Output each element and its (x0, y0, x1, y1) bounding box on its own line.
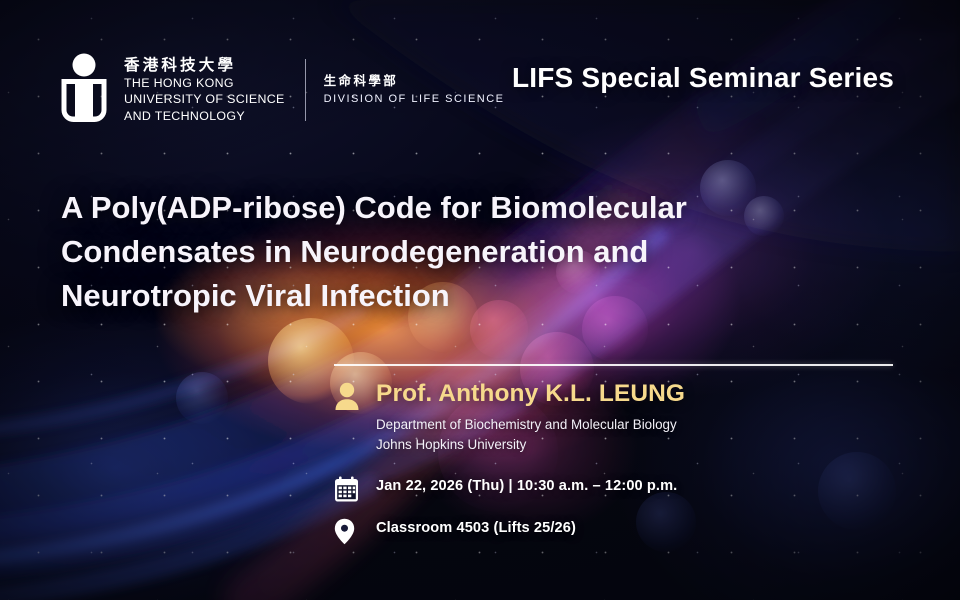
calendar-icon (334, 476, 359, 502)
university-name-cn: 香港科技大學 (124, 56, 285, 75)
speaker-affiliation-line-2: Johns Hopkins University (376, 435, 914, 455)
university-name-en-line2: UNIVERSITY OF SCIENCE (124, 91, 285, 108)
seminar-title-line-3: Neurotropic Viral Infection (61, 274, 821, 318)
hkust-wordmark: 香港科技大學 THE HONG KONG UNIVERSITY OF SCIEN… (124, 56, 285, 125)
schedule-info: Jan 22, 2026 (Thu) | 10:30 a.m. – 12:00 … (376, 471, 914, 501)
university-name-en-line3: AND TECHNOLOGY (124, 108, 285, 125)
division-name-cn: 生命科學部 (324, 72, 505, 91)
schedule-text: Jan 22, 2026 (Thu) | 10:30 a.m. – 12:00 … (376, 471, 914, 501)
speaker-info: Prof. Anthony K.L. LEUNG Department of B… (376, 380, 914, 455)
logo-separator (305, 59, 306, 121)
speaker-icon-slot (334, 380, 376, 410)
speaker-row: Prof. Anthony K.L. LEUNG Department of B… (334, 380, 914, 455)
location-pin-icon (334, 518, 355, 545)
university-name-en-line1: THE HONG KONG (124, 75, 285, 92)
venue-text: Classroom 4503 (Lifts 25/26) (376, 513, 914, 543)
person-icon (334, 382, 360, 410)
location-icon-slot (334, 513, 376, 545)
seminar-poster: 香港科技大學 THE HONG KONG UNIVERSITY OF SCIEN… (0, 0, 960, 600)
seminar-details: Prof. Anthony K.L. LEUNG Department of B… (334, 380, 914, 556)
speaker-affiliation: Department of Biochemistry and Molecular… (376, 415, 914, 455)
series-title: LIFS Special Seminar Series (512, 62, 894, 94)
division-name-en: DIVISION OF LIFE SCIENCE (324, 91, 505, 108)
speaker-name: Prof. Anthony K.L. LEUNG (376, 380, 914, 409)
calendar-icon-slot (334, 471, 376, 502)
division-wordmark: 生命科學部 DIVISION OF LIFE SCIENCE (324, 72, 505, 107)
hkust-logo-lockup: 香港科技大學 THE HONG KONG UNIVERSITY OF SCIEN… (58, 52, 505, 128)
section-divider (334, 364, 893, 366)
seminar-title: A Poly(ADP-ribose) Code for Biomolecular… (61, 186, 821, 318)
hkust-logo-mark (58, 52, 110, 128)
venue-info: Classroom 4503 (Lifts 25/26) (376, 513, 914, 543)
schedule-row: Jan 22, 2026 (Thu) | 10:30 a.m. – 12:00 … (334, 471, 914, 502)
seminar-title-line-1: A Poly(ADP-ribose) Code for Biomolecular (61, 186, 821, 230)
speaker-affiliation-line-1: Department of Biochemistry and Molecular… (376, 415, 914, 435)
poster-content: 香港科技大學 THE HONG KONG UNIVERSITY OF SCIEN… (0, 0, 960, 600)
seminar-title-line-2: Condensates in Neurodegeneration and (61, 230, 821, 274)
venue-row: Classroom 4503 (Lifts 25/26) (334, 513, 914, 545)
